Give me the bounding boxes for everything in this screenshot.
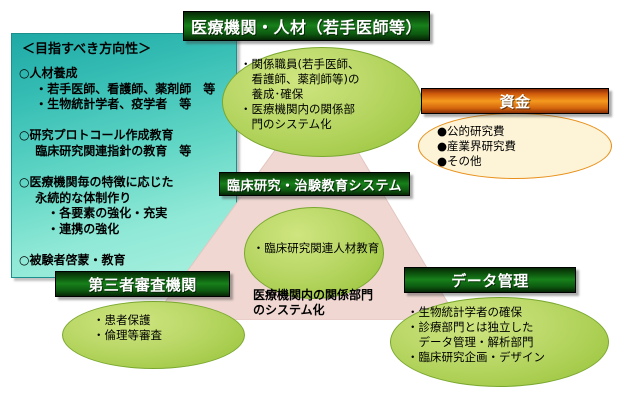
banner-data-management-label: データ管理 (451, 270, 529, 291)
banner-medical-institution-label: 医療機関・人材（若手医師等） (191, 14, 422, 38)
clinical-research-education-body: ・臨床研究関連人材教育 (250, 241, 382, 256)
left-panel-heading: ＜目指すべき方向性＞ (22, 42, 234, 59)
banner-clinical-research-education-system[interactable]: 臨床研究・治験教育システム (219, 172, 410, 196)
banner-third-party-review-label: 第三者審査機関 (88, 274, 197, 295)
banner-medical-institution[interactable]: 医療機関・人材（若手医師等） (183, 11, 430, 41)
medical-institution-body: ・関係職員(若手医師、 看護師、薬剤師等)の 養成･確保 ・医療機関内の関係部 … (240, 57, 420, 132)
funding-body: ●公的研究費 ●産業界研究費 ●その他 (437, 124, 607, 169)
diagram-canvas: 医療機関・人材（若手医師等） 資金 臨床研究・治験教育システム 第三者審査機関 … (0, 0, 620, 400)
center-caption: 医療機関内の関係部門 のシステム化 (253, 288, 423, 318)
banner-clinical-research-education-system-label: 臨床研究・治験教育システム (227, 175, 402, 194)
third-party-review-body: ・患者保護 ・倫理等審査 (93, 313, 233, 343)
banner-funding-label: 資金 (499, 91, 530, 112)
banner-data-management[interactable]: データ管理 (404, 267, 576, 293)
banner-funding[interactable]: 資金 (421, 88, 609, 114)
left-panel-body: ○人材養成 ・若手医師、看護師、薬剤師 等 ・生物統計学者、疫学者 等 ○研究プ… (19, 66, 235, 269)
data-management-body: ・生物統計学者の確保 ・診療部門とは独立した データ管理・解析部門 ・臨床研究企… (407, 305, 607, 365)
banner-third-party-review[interactable]: 第三者審査機関 (55, 271, 230, 297)
